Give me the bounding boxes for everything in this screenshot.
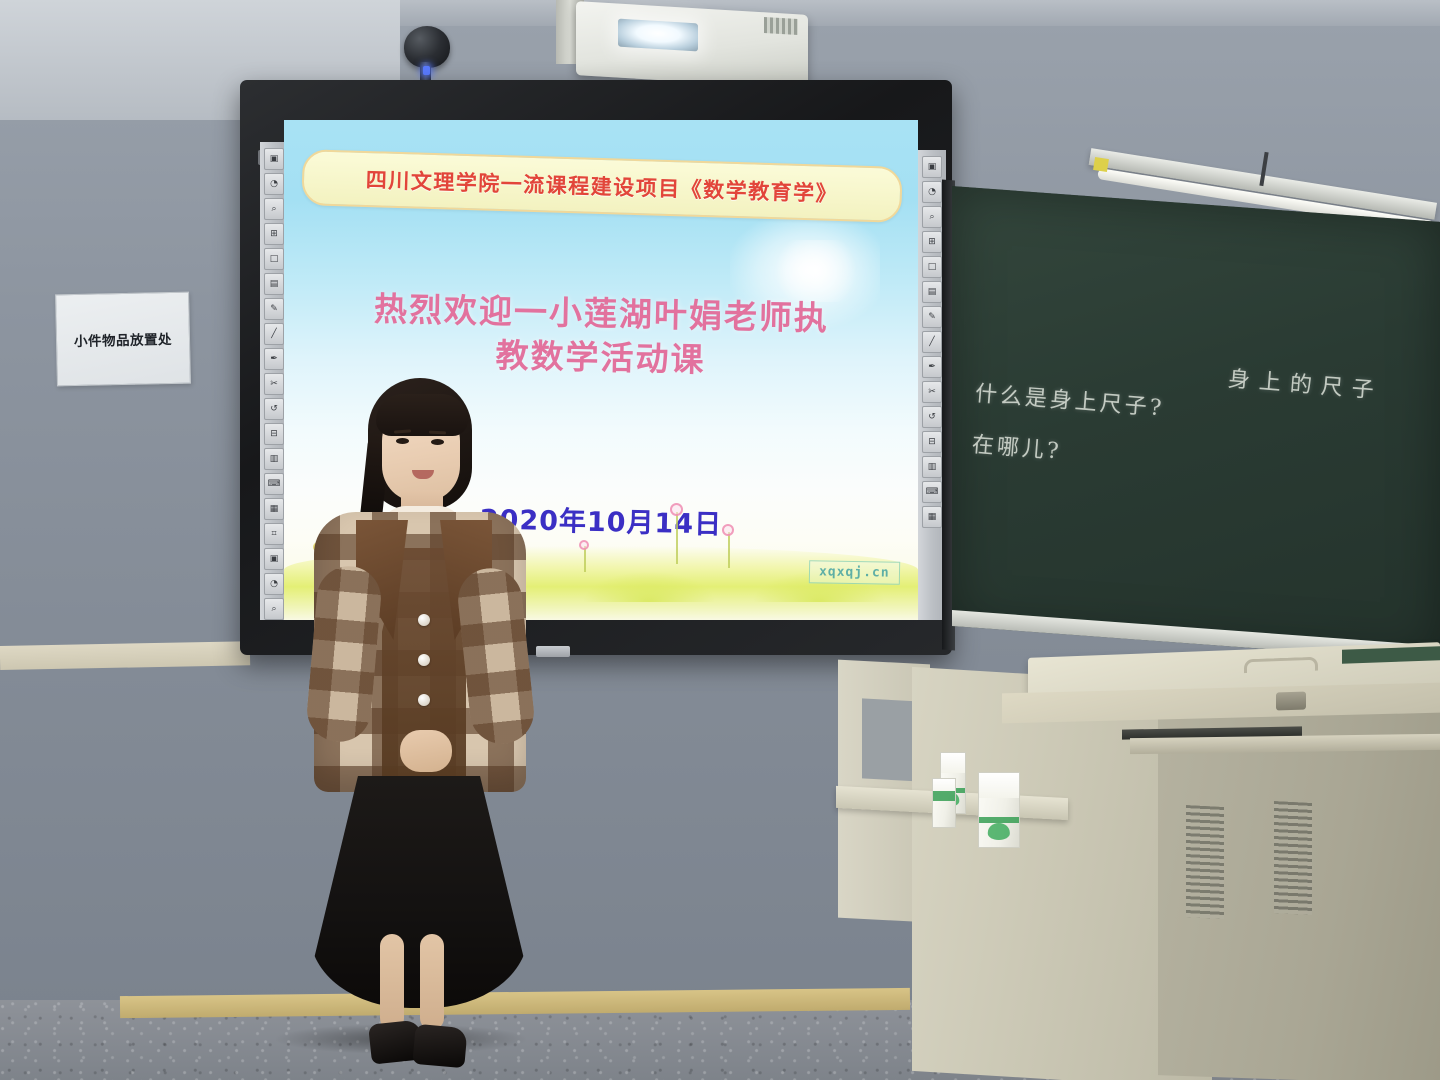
flower-stem	[676, 512, 678, 564]
leg	[380, 934, 404, 1030]
menu-icon[interactable]: ▣	[922, 156, 942, 178]
shape-icon[interactable]: ↺	[264, 398, 284, 420]
select-icon[interactable]: ⊞	[922, 231, 942, 253]
document-icon[interactable]: ▦	[264, 498, 284, 520]
keyboard-icon[interactable]: ▣	[264, 548, 284, 570]
whiteboard-pen-tray	[536, 646, 570, 657]
highlighter-icon[interactable]: ╱	[264, 323, 284, 345]
carton-leaf-icon	[988, 823, 1010, 839]
flower-icon	[670, 503, 683, 516]
cardigan-button	[418, 694, 430, 706]
table-icon[interactable]: ↺	[922, 406, 942, 428]
line-icon[interactable]: ✂	[264, 373, 284, 395]
scissors-icon[interactable]: ▥	[264, 448, 284, 470]
hair-fringe	[376, 394, 468, 436]
carton-band	[933, 791, 955, 801]
shape-icon[interactable]: ✂	[922, 381, 942, 403]
milk-carton	[978, 772, 1020, 848]
teacher-figure	[296, 378, 540, 1080]
camera-led-indicator	[423, 66, 430, 75]
slide-title: 热烈欢迎一小莲湖叶娟老师执 教数学活动课	[284, 285, 918, 385]
save-icon[interactable]: ⌨	[264, 473, 284, 495]
grass-bump	[584, 572, 714, 602]
eye	[431, 439, 444, 445]
leg	[420, 934, 444, 1030]
page-icon[interactable]: □	[922, 256, 942, 278]
grid-icon[interactable]: ▦	[922, 506, 942, 528]
podium-vent	[1274, 801, 1312, 915]
line-icon[interactable]: ╱	[922, 331, 942, 353]
ruler-icon[interactable]: ✒	[922, 356, 942, 378]
podium-handle[interactable]	[1244, 657, 1318, 674]
magnifier-icon[interactable]: ⌕	[264, 198, 284, 220]
slide-sun-core	[776, 240, 856, 302]
projector-vent	[764, 17, 798, 35]
blackboard	[952, 186, 1440, 662]
blackboard-lamp-endcap	[1093, 157, 1109, 172]
eye	[396, 438, 409, 444]
pencil-icon[interactable]: ✒	[264, 348, 284, 370]
gallery-icon[interactable]: ◔	[264, 573, 284, 595]
text-icon[interactable]: ◔	[922, 181, 942, 203]
media-icon[interactable]: ⊟	[922, 431, 942, 453]
podium-latch[interactable]	[1276, 691, 1306, 710]
print-icon[interactable]: ⌗	[264, 523, 284, 545]
slide-title-line1: 热烈欢迎一小莲湖叶娟老师执	[374, 289, 830, 338]
milk-carton	[932, 778, 956, 828]
classroom-scene: 小件物品放置处 ▣◔⌕⊞□▤✎╱✒✂↺⊟▥⌨▦⌗▣◔⌕ ▣◔⌕⊞□▤✎╱✒✂↺⊟…	[0, 0, 1440, 1080]
slide-header-text: 四川文理学院一流课程建设项目《数学教育学》	[365, 164, 838, 208]
grid-icon[interactable]: ⌕	[264, 598, 284, 620]
podium-vent	[1186, 805, 1224, 919]
eraser-icon[interactable]: ▤	[922, 281, 942, 303]
text-a-icon[interactable]: ⌕	[922, 206, 942, 228]
undo-icon[interactable]: ⊟	[264, 423, 284, 445]
cardigan-button	[418, 654, 430, 666]
carton-cap	[979, 773, 1019, 798]
cardigan-button	[418, 614, 430, 626]
slide-watermark: xqxqj.cn	[809, 560, 900, 585]
slide-header-banner: 四川文理学院一流课程建设项目《数学教育学》	[301, 149, 902, 223]
hands	[400, 730, 452, 772]
clock-icon[interactable]: ◔	[264, 173, 284, 195]
camera-icon[interactable]: □	[264, 248, 284, 270]
shoe	[412, 1024, 467, 1068]
folder-icon[interactable]: ▥	[922, 456, 942, 478]
projector-lens-icon	[618, 19, 698, 52]
flower-icon	[579, 540, 589, 550]
flower-icon	[722, 524, 734, 536]
zoom-icon[interactable]: ▣	[264, 148, 284, 170]
settings-icon[interactable]: ⌨	[922, 481, 942, 503]
pen-icon[interactable]: ✎	[922, 306, 942, 328]
carton-cap	[941, 753, 965, 773]
wall-sign-label: 小件物品放置处	[74, 328, 172, 350]
pen-icon[interactable]: ✎	[264, 298, 284, 320]
magnifier-plus-icon[interactable]: ⊞	[264, 223, 284, 245]
wall-trim-strip	[0, 641, 250, 670]
page-icon[interactable]: ▤	[264, 273, 284, 295]
flower-stem	[728, 532, 730, 568]
wall-sign: 小件物品放置处	[55, 292, 191, 387]
skirt	[310, 776, 528, 1008]
